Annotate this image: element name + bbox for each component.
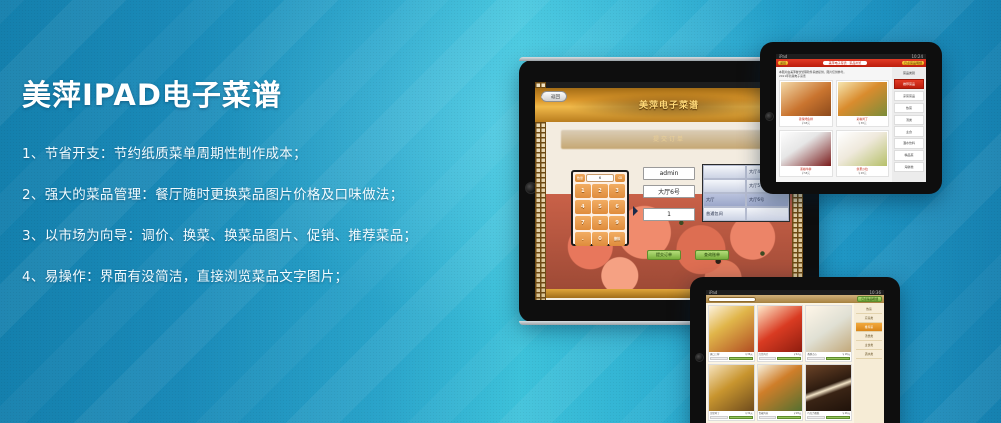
dish-card[interactable]: 彩椒鸡丁 ￥38元 [836,80,890,127]
dish-photo [806,306,851,352]
sidebar-item-hot-dishes[interactable]: 热菜 [894,103,924,113]
table-cell-room-selected[interactable]: 大厅6号 [746,193,789,207]
table-field[interactable]: 大厅6号 [643,185,695,198]
feature-list: 1、节省开支：节约纸质菜单周期性制作成本； 2、强大的菜品管理：餐厅随时更换菜品… [22,142,452,285]
add-to-order-button[interactable] [777,416,801,420]
pointer-arrow-icon [633,206,643,216]
table-cell-area[interactable] [703,165,746,179]
sidebar-item-cold[interactable]: 凉菜类 [856,314,882,323]
dish-price: ￥38元 [838,121,888,125]
dish-card[interactable]: 鲜果沙拉 ￥28元 [836,130,890,177]
dish-card[interactable]: 爽口三鲜 ￥36元 [708,305,755,362]
keypad-key[interactable]: 4 [575,200,591,214]
dish-photo [758,306,803,352]
dish-price: ￥28元 [838,171,888,175]
home-button[interactable] [695,353,704,362]
status-time: 10:24 [911,54,923,59]
promo-description-line2: 2011年新版电子菜谱 [779,74,889,78]
dish-detail-button[interactable] [807,357,825,361]
dish-grid-panel: 本图片由美萍餐饮管理软件系统提供，图片仅供参考。 2011年新版电子菜谱 香辣烤… [776,67,892,182]
dish-card[interactable]: 青椒肉丝 ￥28元 [757,364,804,421]
dish-actions [758,415,803,421]
keypad-key[interactable]: 8 [592,216,608,230]
dish-card-grid: 香辣烤鱼排 ￥68元 彩椒鸡丁 ￥38元 黑椒牛柳 ￥58元 [779,80,889,177]
dish-detail-button[interactable] [710,416,728,420]
dish-detail-button[interactable] [807,416,825,420]
dish-actions [806,356,851,362]
dish-price: ￥68元 [781,121,831,125]
screen-body: 本图片由美萍餐饮管理软件系统提供，图片仅供参考。 2011年新版电子菜谱 香辣烤… [776,67,926,182]
keypad-key[interactable]: 5 [592,200,608,214]
keypad-key[interactable]: 2 [592,184,608,198]
sidebar-item-drinks[interactable]: 酒水类 [856,350,882,359]
dish-photo [838,132,888,166]
sidebar-item-drinks[interactable]: 酒水饮料 [894,138,924,148]
username-field[interactable]: admin [643,167,695,180]
keypad-key[interactable]: 7 [575,216,591,230]
category-sidebar: 菜品类别 推荐菜品 凉菜菜品 热菜 汤类 主食 酒水饮料 精品菜 海鲜类 [892,67,926,182]
sidebar-item-staple[interactable]: 主食类 [856,341,882,350]
dish-photo [709,365,754,411]
promo-banner: 美萍IPAD电子菜谱 1、节省开支：节约纸质菜单周期性制作成本； 2、强大的菜品… [0,0,1001,423]
list-item: 2、强大的菜品管理：餐厅随时更换菜品图片价格及口味做法； [22,183,452,203]
order-detail-button[interactable]: 已点菜品明细 [902,61,924,65]
screen-bottom: iPad 10:36 已点菜品明细 爽口三鲜 ￥36元 [706,290,884,423]
list-item: 3、以市场为向导：调价、换菜、换菜品图片、促销、推荐菜品； [22,224,452,244]
keypad-key[interactable]: 9 [609,216,625,230]
dish-card-grid: 爽口三鲜 ￥36元 红烧肉片 ￥42元 [706,303,854,423]
sidebar-item-recommended[interactable]: 推荐菜 [856,323,882,332]
list-item: 4、易操作：界面有没简洁，直接浏览菜品文字图片； [22,265,452,285]
dish-detail-button[interactable] [759,357,777,361]
dish-actions [758,356,803,362]
screen-body: 爽口三鲜 ￥36元 红烧肉片 ￥42元 [706,303,884,423]
ipad-device-bottom: iPad 10:36 已点菜品明细 爽口三鲜 ￥36元 [690,277,900,423]
keypad-display-row: 数量 6 ⌫ [575,174,625,182]
dish-photo [838,82,888,116]
submit-order-button[interactable]: 提交订单 [647,250,681,260]
dish-price: ￥58元 [781,171,831,175]
keypad-key[interactable]: 6 [609,200,625,214]
app-header-bar: 返回 美萍电子菜谱 · 菜品浏览 已点菜品明细 [776,59,926,67]
keypad-delete-key[interactable]: 删除 [609,232,625,246]
dish-photo [758,365,803,411]
add-to-order-button[interactable] [729,357,753,361]
sidebar-item-soup[interactable]: 汤羹类 [856,332,882,341]
table-cell-area[interactable] [703,179,746,193]
page-title: 美萍IPAD电子菜谱 [22,72,452,114]
dish-photo [781,132,831,166]
numeric-keypad[interactable]: 数量 6 ⌫ 1 2 3 4 5 6 7 8 9 . 0 删除 [571,170,629,246]
screen-top-right: iPad 10:24 返回 美萍电子菜谱 · 菜品浏览 已点菜品明细 本图片由美… [776,54,926,182]
dish-card[interactable]: 红烧肉片 ￥42元 [757,305,804,362]
dish-photo [806,365,851,411]
home-button[interactable] [765,112,774,121]
add-to-order-button[interactable] [729,416,753,420]
status-carrier: iPad [779,54,787,59]
keypad-label: 数量 [575,174,585,182]
sidebar-item-hot[interactable]: 热菜 [856,305,882,314]
search-input[interactable] [708,297,756,302]
dish-card[interactable]: 宫保鸡丁 ￥32元 [708,364,755,421]
keypad-key[interactable]: 1 [575,184,591,198]
sidebar-item-premium[interactable]: 精品菜 [894,150,924,160]
keypad-key[interactable]: 0 [592,232,608,246]
dish-photo [781,82,831,116]
category-sidebar: 热菜 凉菜类 推荐菜 汤羹类 主食类 酒水类 [854,303,884,423]
promo-description: 本图片由美萍餐饮管理软件系统提供，图片仅供参考。 2011年新版电子菜谱 [779,70,889,78]
table-cell-area[interactable]: 普通包间 [703,207,746,221]
dish-card[interactable]: 香酥点心 ￥18元 [805,305,852,362]
dish-photo [709,306,754,352]
count-field[interactable]: 1 [643,208,695,221]
keypad-grid: 1 2 3 4 5 6 7 8 9 . 0 删除 [575,184,625,246]
back-button[interactable]: 返回 [541,91,567,102]
backspace-icon[interactable]: ⌫ [615,174,625,182]
back-button[interactable]: 返回 [778,61,788,65]
list-item: 1、节省开支：节约纸质菜单周期性制作成本； [22,142,452,162]
dish-actions [709,415,754,421]
status-time: 10:36 [869,290,881,295]
dish-detail-button[interactable] [759,416,777,420]
dish-actions [806,415,851,421]
sidebar-item-soups[interactable]: 汤类 [894,115,924,125]
dish-detail-button[interactable] [710,357,728,361]
dish-actions [709,356,754,362]
order-detail-button[interactable]: 已点菜品明细 [857,296,882,302]
sidebar-item-cold-dishes[interactable]: 凉菜菜品 [894,91,924,101]
keypad-key[interactable]: . [575,232,591,246]
header-title: 美萍电子菜谱 · 菜品浏览 [823,61,868,65]
sidebar-item-seafood[interactable]: 海鲜类 [894,162,924,172]
table-cell-room[interactable] [746,207,789,221]
status-carrier: iPad [709,290,717,295]
dish-card[interactable]: 香辣烤鱼排 ￥68元 [779,80,833,127]
table-cell-area-selected[interactable]: 大厅 [703,193,746,207]
add-to-order-button[interactable] [777,357,801,361]
add-to-order-button[interactable] [826,357,850,361]
sidebar-heading: 菜品类别 [894,69,924,77]
ipad-device-top-right: iPad 10:24 返回 美萍电子菜谱 · 菜品浏览 已点菜品明细 本图片由美… [760,42,942,194]
dish-card[interactable]: 巧克力蛋糕 ￥26元 [805,364,852,421]
keypad-key[interactable]: 3 [609,184,625,198]
query-bill-button[interactable]: 查询账单 [695,250,729,260]
app-top-bar: 已点菜品明细 [706,295,884,303]
dish-card[interactable]: 黑椒牛柳 ￥58元 [779,130,833,177]
add-to-order-button[interactable] [826,416,850,420]
sidebar-item-staple[interactable]: 主食 [894,126,924,136]
keypad-input[interactable]: 6 [586,174,614,182]
sidebar-item-recommended[interactable]: 推荐菜品 [894,79,924,89]
banner-copy: 美萍IPAD电子菜谱 1、节省开支：节约纸质菜单周期性制作成本； 2、强大的菜品… [22,72,452,285]
